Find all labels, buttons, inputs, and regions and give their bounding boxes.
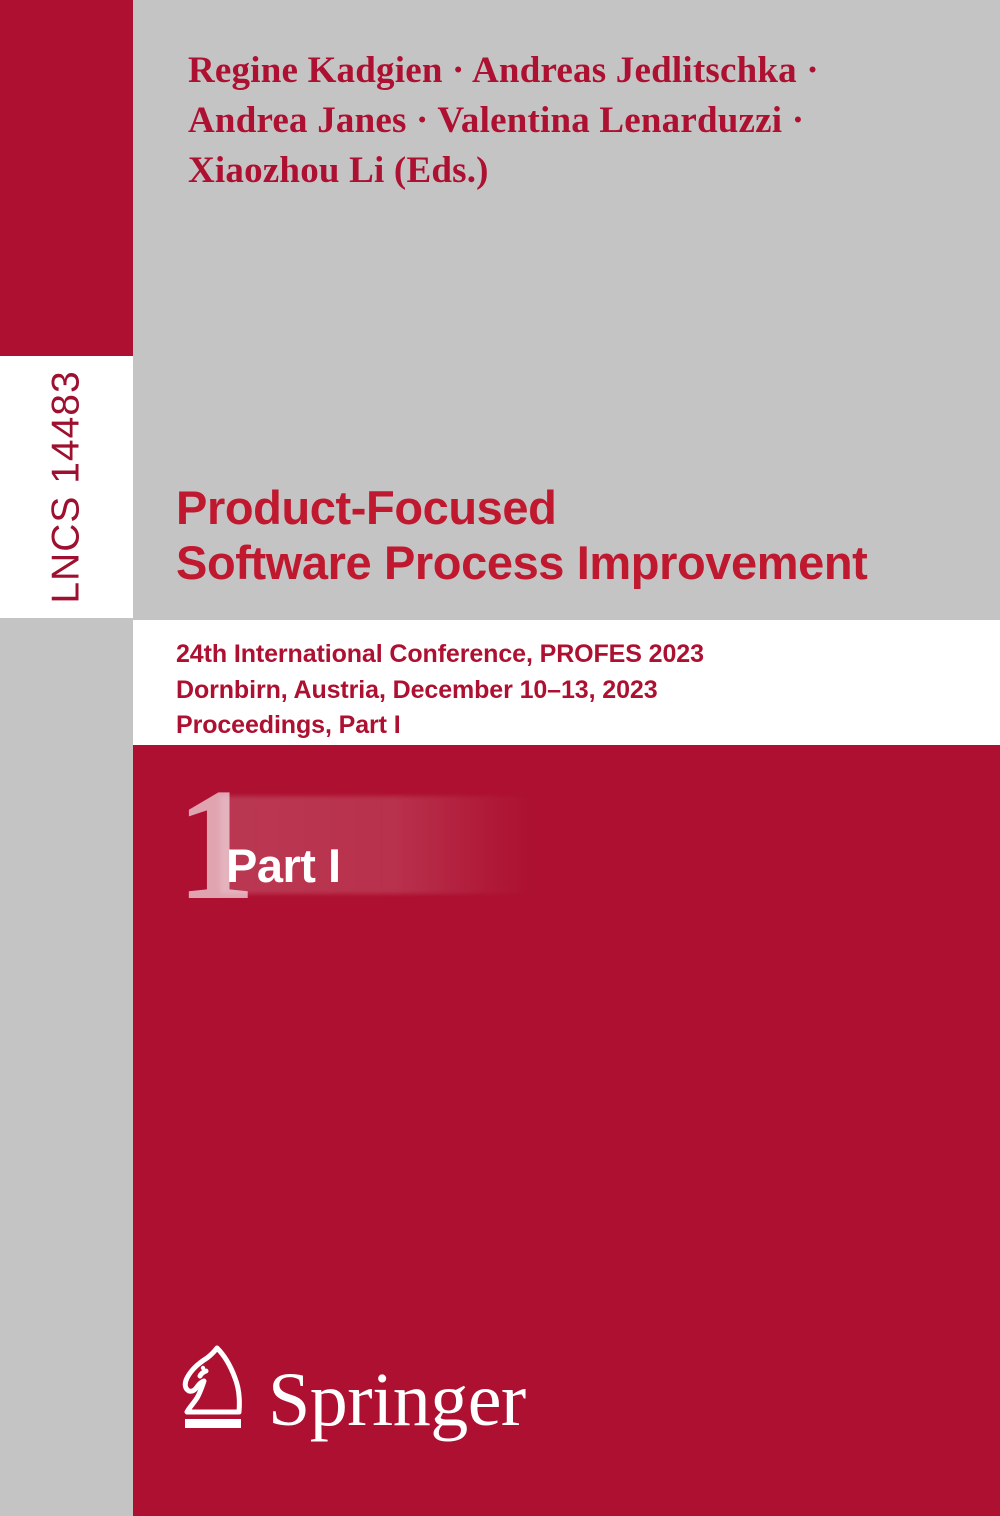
subtitle-line: Dornbirn, Austria, December 10–13, 2023 bbox=[176, 673, 976, 709]
publisher-name: Springer bbox=[268, 1366, 526, 1436]
part-badge: 1 Part I bbox=[176, 778, 596, 918]
editors-line: Xiaozhou Li (Eds.) bbox=[188, 146, 888, 196]
book-subtitle: 24th International Conference, PROFES 20… bbox=[176, 637, 976, 744]
part-badge-label: Part I bbox=[226, 842, 341, 889]
series-label-container: LNCS 14483 bbox=[0, 356, 133, 618]
title-line: Product-Focused bbox=[176, 481, 976, 536]
springer-knight-icon bbox=[176, 1340, 252, 1436]
book-cover: Regine Kadgien · Andreas Jedlitschka · A… bbox=[0, 0, 1000, 1516]
background-red-top-left bbox=[0, 0, 133, 356]
editors-line: Andrea Janes · Valentina Lenarduzzi · bbox=[188, 96, 888, 146]
title-line: Software Process Improvement bbox=[176, 536, 976, 591]
editors-block: Regine Kadgien · Andreas Jedlitschka · A… bbox=[188, 46, 888, 196]
subtitle-line: 24th International Conference, PROFES 20… bbox=[176, 637, 976, 673]
publisher-logo: Springer bbox=[176, 1340, 526, 1436]
series-label: LNCS 14483 bbox=[45, 370, 89, 603]
book-title: Product-Focused Software Process Improve… bbox=[176, 481, 976, 590]
subtitle-line: Proceedings, Part I bbox=[176, 708, 976, 744]
background-grey-left-column bbox=[0, 618, 133, 1516]
editors-line: Regine Kadgien · Andreas Jedlitschka · bbox=[188, 46, 888, 96]
